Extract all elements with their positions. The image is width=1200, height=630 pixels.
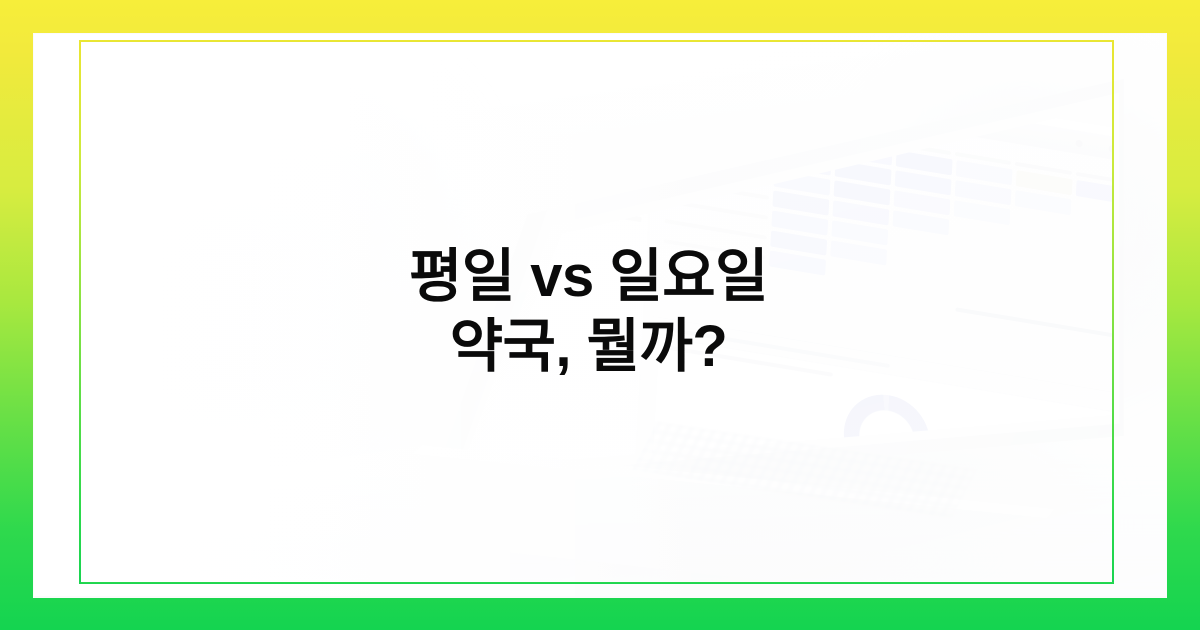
cohort-row-label (669, 139, 771, 160)
cohort-row-label (670, 119, 772, 140)
url-bar[interactable] (784, 87, 933, 126)
laptop-layer (34, 34, 1166, 596)
thumbnail-card: 평일 vs 일요일 약국, 뭘까? (0, 0, 1200, 630)
star-icon[interactable] (1076, 140, 1083, 148)
background-photo-layer (34, 34, 1166, 596)
